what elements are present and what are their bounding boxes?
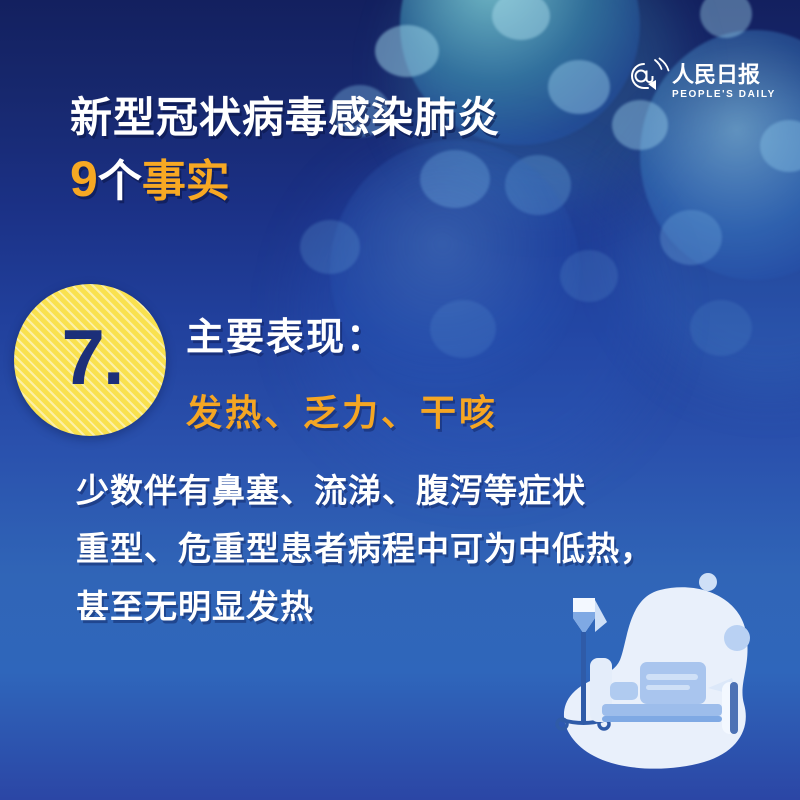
bed-mattress	[602, 704, 722, 716]
headline-line-2: 9个事实	[70, 154, 500, 204]
decoration-dot	[724, 625, 750, 651]
item-number-text: 7.	[61, 318, 122, 396]
headline-number: 9	[70, 151, 98, 207]
section-lead-label: 主要表现：	[186, 306, 386, 361]
tank-shadow	[730, 682, 738, 734]
virus-spike	[375, 25, 439, 77]
logo-english-name: PEOPLE'S DAILY	[672, 89, 776, 100]
bed-pillow	[610, 682, 638, 700]
virus-spike	[492, 0, 550, 40]
headline-block: 新型冠状病毒感染肺炎 9个事实	[70, 96, 500, 204]
virus-spike	[560, 250, 618, 302]
hospital-bed	[590, 658, 722, 722]
detail-text-block: 少数伴有鼻塞、流涕、腹泻等症状 重型、危重型患者病程中可为中低热， 甚至无明显发…	[76, 462, 654, 636]
iv-wheel	[557, 719, 567, 729]
virus-spike	[430, 300, 496, 358]
decoration-dot	[699, 573, 717, 591]
virus-spike	[548, 60, 610, 114]
peoples-daily-logo: 人民日报 PEOPLE'S DAILY	[622, 56, 778, 102]
virus-spike	[700, 0, 752, 38]
virus-spike	[690, 300, 752, 356]
headline-word: 事实	[142, 157, 230, 206]
primary-symptoms-text: 发热、乏力、干咳	[186, 384, 498, 436]
virus-glow	[620, 90, 800, 390]
virus-spike	[612, 100, 668, 150]
headline-measure: 个	[98, 157, 142, 206]
blanket-stripe	[646, 674, 698, 680]
bed-blanket	[640, 662, 706, 704]
blanket-stripe	[646, 685, 690, 690]
logo-chinese-name: 人民日报	[672, 62, 760, 87]
detail-line: 甚至无明显发热	[76, 578, 654, 636]
sound-wave-icon	[655, 59, 669, 71]
infographic-poster: 人民日报 PEOPLE'S DAILY 新型冠状病毒感染肺炎 9个事实 7. 主…	[0, 0, 800, 800]
detail-line: 重型、危重型患者病程中可为中低热，	[76, 520, 654, 578]
virus-spike	[760, 120, 800, 172]
headline-line-1: 新型冠状病毒感染肺炎	[70, 96, 500, 140]
detail-line: 少数伴有鼻塞、流涕、腹泻等症状	[76, 462, 654, 520]
virus-spike	[505, 155, 571, 215]
item-number-badge: 7.	[14, 284, 166, 436]
iv-pole	[581, 632, 586, 722]
bed-frame	[602, 716, 722, 722]
virus-spike	[300, 220, 360, 274]
virus-spike	[660, 210, 722, 265]
